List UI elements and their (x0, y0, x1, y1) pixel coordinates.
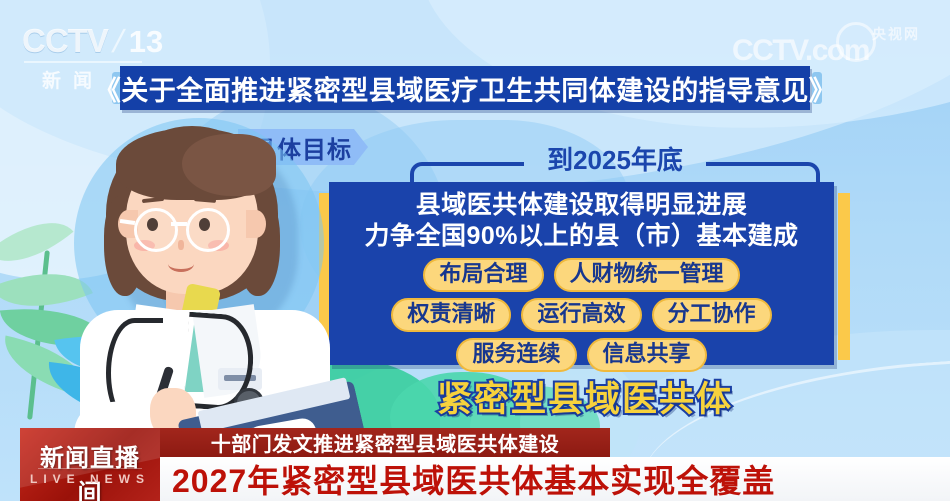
glasses-bridge-icon (171, 222, 187, 226)
feature-pill: 权责清晰 (391, 298, 511, 332)
headline-text: 2027年紧密型县域医共体基本实现全覆盖 (160, 456, 775, 501)
feature-pill-row-3: 服务连续 信息共享 (329, 338, 834, 372)
cctv-wordmark: CCTV (22, 24, 108, 57)
sub-ticker-bar: 十部门发文推进紧密型县域医共体建设 (160, 428, 610, 457)
cctv-com-watermark: 央视网 CCTV.com (732, 18, 922, 68)
glasses-lens-right-icon (186, 208, 230, 252)
accent-bar-right (838, 193, 850, 360)
feature-pill: 布局合理 (423, 258, 543, 292)
cctv-slash-divider: / (110, 25, 127, 57)
feature-pill: 分工协作 (652, 298, 772, 332)
goal-statement-line-2: 力争全国90%以上的县（市）基本建成 (329, 221, 834, 252)
doctor-ear-right (246, 210, 266, 238)
feature-pill: 服务连续 (456, 338, 576, 372)
highlight-label: 紧密型县域医共体 (330, 371, 840, 422)
program-logo-divider (38, 468, 142, 469)
headline-bar: 2027年紧密型县域医共体基本实现全覆盖 (160, 457, 950, 501)
doctor-illustration (62, 100, 352, 445)
feature-pill: 信息共享 (587, 338, 707, 372)
sub-ticker-text: 十部门发文推进紧密型县域医共体建设 (211, 428, 560, 457)
program-name-cn: 新闻直播间 (30, 438, 150, 501)
watermark-cn-label: 央视网 (872, 24, 920, 44)
doctor-mouth (168, 256, 194, 272)
broadcast-screenshot: CCTV / 13 新闻 央视网 CCTV.com 《关于全面推进紧密型县域医疗… (0, 0, 950, 501)
goal-statement-line-1: 县域医共体建设取得明显进展 (329, 190, 834, 221)
glasses-lens-left-icon (134, 208, 178, 252)
cctv-channel-number: 13 (129, 26, 163, 57)
feature-pill-row-2: 权责清晰 运行高效 分工协作 (329, 298, 834, 332)
doctor-nose (178, 240, 184, 250)
doctor-hair-fringe-highlight (182, 134, 276, 196)
feature-pill: 人财物统一管理 (554, 258, 740, 292)
deadline-header: 到2025年底 (415, 140, 815, 180)
program-logo-box: 新闻直播间 LIVE NEWS (20, 428, 160, 501)
feature-pill-row-1: 布局合理 人财物统一管理 (329, 258, 834, 292)
deadline-label: 到2025年底 (535, 140, 695, 177)
program-name-en: LIVE NEWS (30, 472, 150, 486)
feature-pill: 运行高效 (521, 298, 641, 332)
watermark-domain-label: CCTV.com (732, 34, 869, 68)
goals-content-box: 县域医共体建设取得明显进展 力争全国90%以上的县（市）基本建成 布局合理 人财… (329, 182, 834, 365)
cctv-logo-underline (24, 61, 142, 63)
